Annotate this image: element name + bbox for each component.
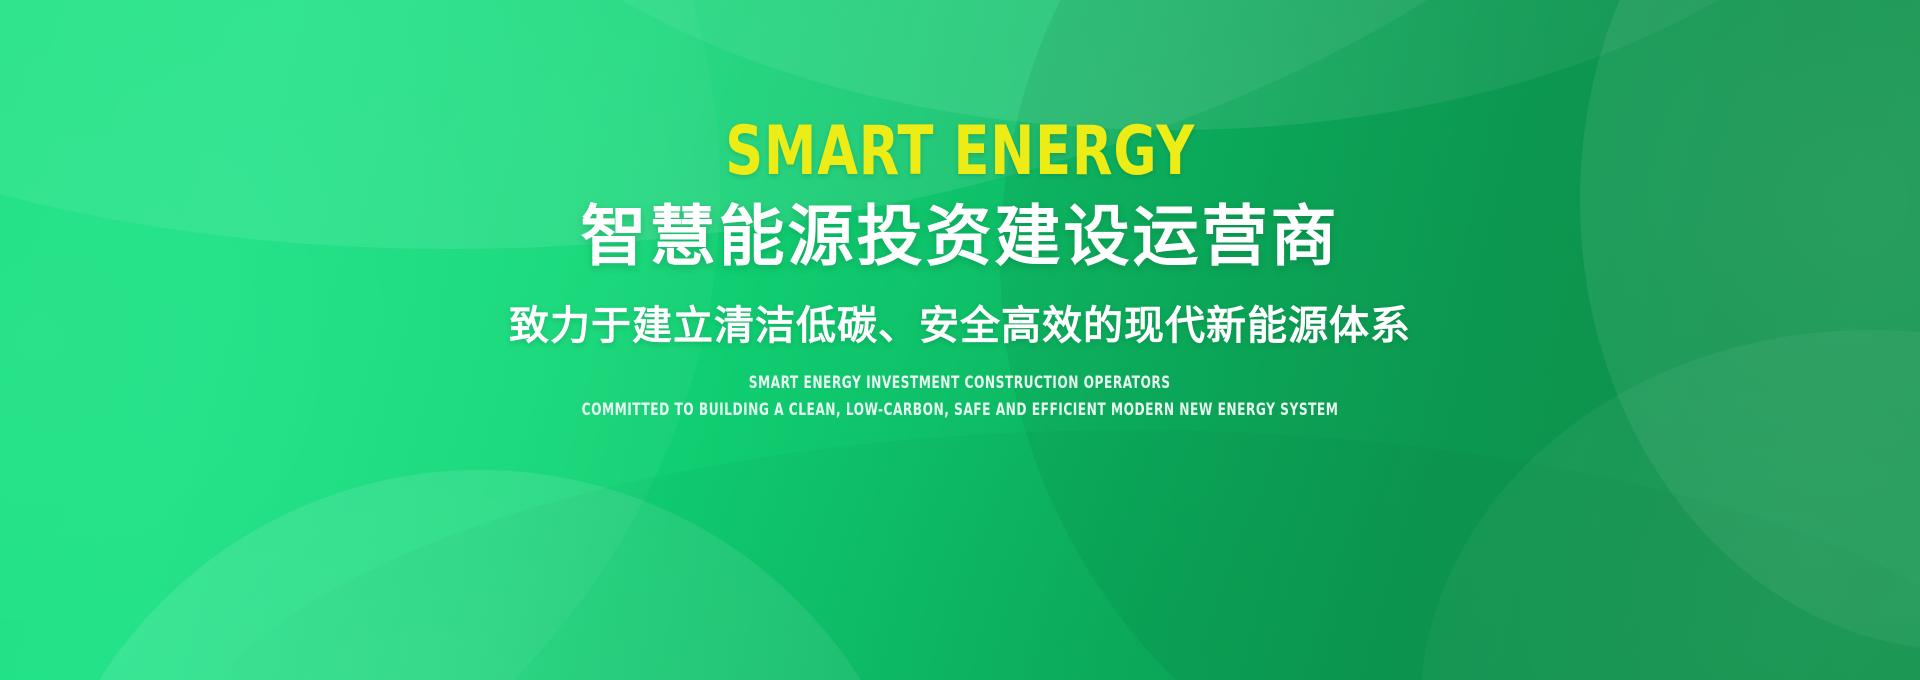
- banner-subtitle-chinese: 致力于建立清洁低碳、安全高效的现代新能源体系: [509, 302, 1411, 350]
- banner-caption-group: SMART ENERGY INVESTMENT CONSTRUCTION OPE…: [487, 372, 1433, 422]
- banner-title-chinese: 智慧能源投资建设运营商: [581, 200, 1340, 274]
- hero-banner: SMART ENERGY 智慧能源投资建设运营商 致力于建立清洁低碳、安全高效的…: [0, 0, 1920, 680]
- banner-caption-line-1: SMART ENERGY INVESTMENT CONSTRUCTION OPE…: [749, 372, 1171, 395]
- banner-content: SMART ENERGY 智慧能源投资建设运营商 致力于建立清洁低碳、安全高效的…: [0, 0, 1920, 680]
- banner-title-english: SMART ENERGY: [725, 118, 1195, 186]
- banner-caption-line-2: COMMITTED TO BUILDING A CLEAN, LOW-CARBO…: [582, 399, 1339, 422]
